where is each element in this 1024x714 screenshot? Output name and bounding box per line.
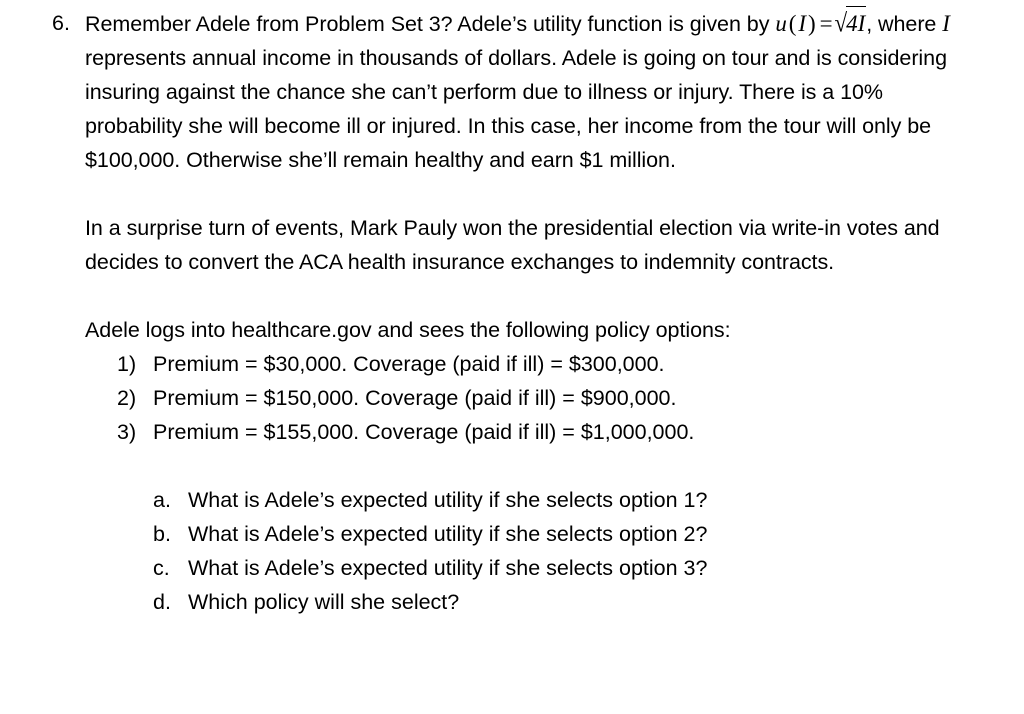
math-argument: I xyxy=(798,11,806,36)
income-variable: I xyxy=(942,11,950,36)
problem-number: 6. xyxy=(52,6,82,40)
policy-options-list: 1) Premium = $30,000. Coverage (paid if … xyxy=(85,347,984,449)
option-marker: 3) xyxy=(117,415,151,449)
option-marker: 1) xyxy=(117,347,151,381)
list-item: 1) Premium = $30,000. Coverage (paid if … xyxy=(117,347,984,381)
document-page: 6. Remember Adele from Problem Set 3? Ad… xyxy=(0,0,1024,714)
subquestion-text: Which policy will she select? xyxy=(188,585,984,619)
math-open-paren: ( xyxy=(787,11,799,36)
option-text: Premium = $155,000. Coverage (paid if il… xyxy=(153,415,984,449)
math-radicand: 4I xyxy=(846,6,866,41)
intro-text: Remember Adele from Problem Set 3? Adele… xyxy=(85,12,769,36)
math-equals-sign: = xyxy=(818,11,835,36)
option-text: Premium = $30,000. Coverage (paid if ill… xyxy=(153,347,984,381)
subquestion-marker: a. xyxy=(153,483,187,517)
subquestion-text: What is Adele’s expected utility if she … xyxy=(188,551,984,585)
math-square-root: √4I xyxy=(835,6,867,41)
subquestion-marker: c. xyxy=(153,551,187,585)
math-close-paren: ) xyxy=(806,11,818,36)
list-item: 3) Premium = $155,000. Coverage (paid if… xyxy=(117,415,984,449)
list-item: b. What is Adele’s expected utility if s… xyxy=(153,517,984,551)
problem-block: 6. Remember Adele from Problem Set 3? Ad… xyxy=(52,6,984,619)
subquestion-text: What is Adele’s expected utility if she … xyxy=(188,483,984,517)
policy-options-intro: Adele logs into healthcare.gov and sees … xyxy=(85,313,978,347)
list-item: a. What is Adele’s expected utility if s… xyxy=(153,483,984,517)
list-item: c. What is Adele’s expected utility if s… xyxy=(153,551,984,585)
paragraph-spacer xyxy=(85,279,984,313)
paragraph-spacer xyxy=(85,177,984,211)
subquestion-marker: b. xyxy=(153,517,187,551)
option-text: Premium = $150,000. Coverage (paid if il… xyxy=(153,381,984,415)
utility-function-math: u(I)=√4I xyxy=(775,11,866,36)
subquestion-text: What is Adele’s expected utility if she … xyxy=(188,517,984,551)
election-paragraph: In a surprise turn of events, Mark Pauly… xyxy=(85,211,978,279)
after-math-text-part2: represents annual income in thousands of… xyxy=(85,46,947,172)
subquestions-list: a. What is Adele’s expected utility if s… xyxy=(85,483,984,619)
after-math-text-part1: , where xyxy=(866,12,942,36)
list-item: 2) Premium = $150,000. Coverage (paid if… xyxy=(117,381,984,415)
list-item: d. Which policy will she select? xyxy=(153,585,984,619)
problem-body: Remember Adele from Problem Set 3? Adele… xyxy=(85,6,984,619)
paragraph-spacer xyxy=(85,449,984,483)
option-marker: 2) xyxy=(117,381,151,415)
subquestion-marker: d. xyxy=(153,585,187,619)
problem-statement-paragraph: Remember Adele from Problem Set 3? Adele… xyxy=(85,6,978,177)
math-function-name: u xyxy=(775,11,786,36)
